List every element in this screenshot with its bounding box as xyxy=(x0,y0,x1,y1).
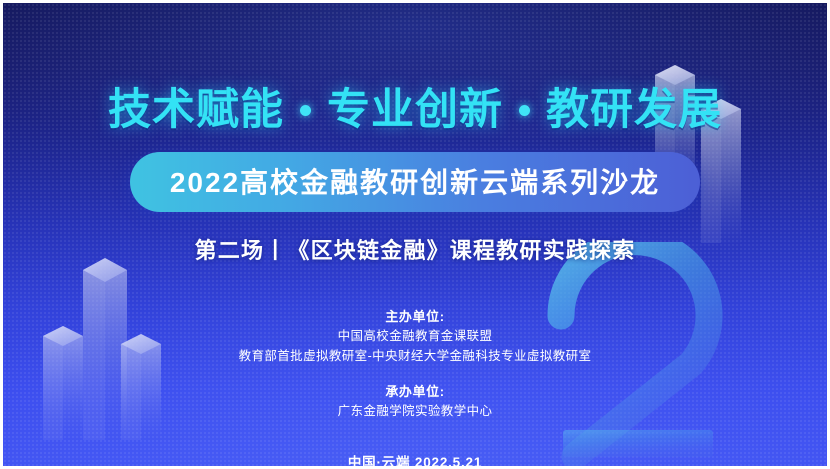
organizer-label: 主办单位: xyxy=(239,307,592,327)
poster-content: 技术赋能 专业创新 教研发展 2022高校金融教研创新云端系列沙龙 第二场丨《区… xyxy=(3,3,827,466)
host-block: 承办单位: 广东金融学院实验教学中心 xyxy=(338,382,493,422)
headline-segment-2: 专业创新 xyxy=(327,89,503,132)
headline-separator-dot-2 xyxy=(519,105,530,116)
conference-poster: 技术赋能 专业创新 教研发展 2022高校金融教研创新云端系列沙龙 第二场丨《区… xyxy=(0,0,830,469)
series-title-pill: 2022高校金融教研创新云端系列沙龙 xyxy=(130,152,700,212)
host-label: 承办单位: xyxy=(338,382,493,402)
headline-segment-3: 教研发展 xyxy=(546,89,722,132)
headline: 技术赋能 专业创新 教研发展 xyxy=(108,89,722,132)
organizer-line-1: 中国高校金融教育金课联盟 xyxy=(239,327,592,346)
session-title: 第二场丨《区块链金融》课程教研实践探索 xyxy=(195,233,636,265)
headline-separator-dot-1 xyxy=(300,105,311,116)
organizer-line-2: 教育部首批虚拟教研室-中央财经大学金融科技专业虚拟教研室 xyxy=(239,347,592,366)
organizer-block: 主办单位: 中国高校金融教育金课联盟 教育部首批虚拟教研室-中央财经大学金融科技… xyxy=(239,307,592,366)
location-date: 中国·云端 2022.5.21 xyxy=(348,451,482,469)
host-line-1: 广东金融学院实验教学中心 xyxy=(338,402,493,421)
headline-segment-1: 技术赋能 xyxy=(108,89,284,132)
